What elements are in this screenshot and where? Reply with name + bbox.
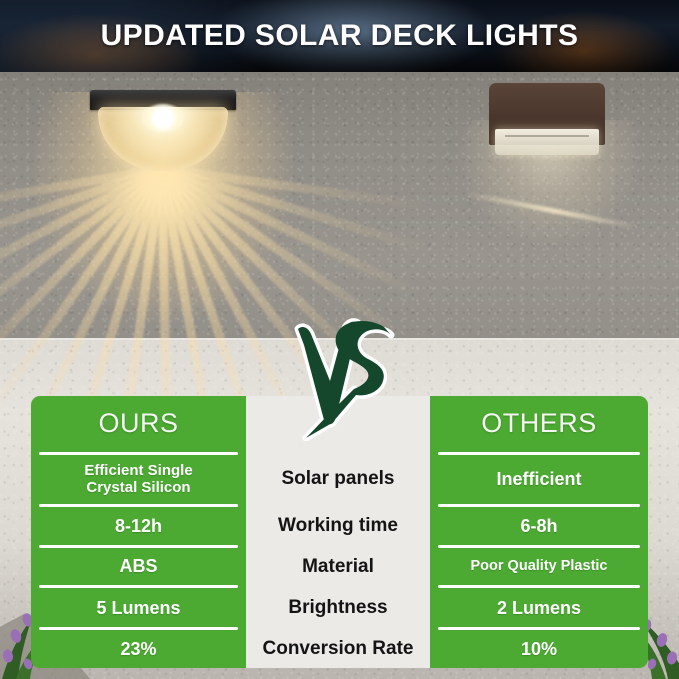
cell-ours-brightness: 5 Lumens — [31, 588, 246, 627]
row-separator — [31, 585, 648, 588]
cell-ours-material: ABS — [31, 548, 246, 586]
column-header-others: OTHERS — [430, 396, 648, 452]
dim-competitor-deck-light — [489, 83, 605, 165]
cell-ours-conversion-rate: 23% — [31, 630, 246, 668]
cell-others-solar-panels: Inefficient — [430, 455, 648, 504]
cell-ours-working-time: 8-12h — [31, 507, 246, 545]
table-row: Efficient Single Crystal Silicon Solar p… — [31, 455, 648, 504]
cell-ours-solar-panels-line2: Crystal Silicon — [86, 479, 190, 496]
cell-ours-solar-panels: Efficient Single Crystal Silicon — [31, 455, 246, 504]
row-separator — [31, 452, 648, 455]
cell-feature-working-time: Working time — [246, 507, 430, 545]
table-row: 8-12h Working time 6-8h — [31, 507, 648, 545]
table-row: 5 Lumens Brightness 2 Lumens — [31, 588, 648, 627]
cell-feature-conversion-rate: Conversion Rate — [246, 630, 430, 668]
column-header-ours: OURS — [31, 396, 246, 452]
cell-others-working-time: 6-8h — [430, 507, 648, 545]
table-row: 23% Conversion Rate 10% — [31, 630, 648, 668]
row-separator — [31, 504, 648, 507]
table-row: ABS Material Poor Quality Plastic — [31, 548, 648, 586]
competitor-lens-bar — [505, 135, 589, 137]
page-title: UPDATED SOLAR DECK LIGHTS — [0, 0, 679, 72]
competitor-lens — [495, 129, 599, 155]
product-comparison-poster: UPDATED SOLAR DECK LIGHTS OURS OTHERS Ef… — [0, 0, 679, 679]
cell-others-conversion-rate: 10% — [430, 630, 648, 668]
vs-badge-icon — [288, 305, 408, 441]
cell-ours-solar-panels-line1: Efficient Single — [84, 462, 192, 479]
cell-others-material: Poor Quality Plastic — [430, 548, 648, 586]
cell-feature-material: Material — [246, 548, 430, 586]
cell-others-brightness: 2 Lumens — [430, 588, 648, 627]
cell-feature-solar-panels: Solar panels — [246, 455, 430, 504]
cell-feature-brightness: Brightness — [246, 588, 430, 627]
led-hotspot — [142, 104, 184, 132]
bright-solar-deck-light — [86, 90, 240, 176]
row-separator — [31, 545, 648, 548]
row-separator — [31, 627, 648, 630]
